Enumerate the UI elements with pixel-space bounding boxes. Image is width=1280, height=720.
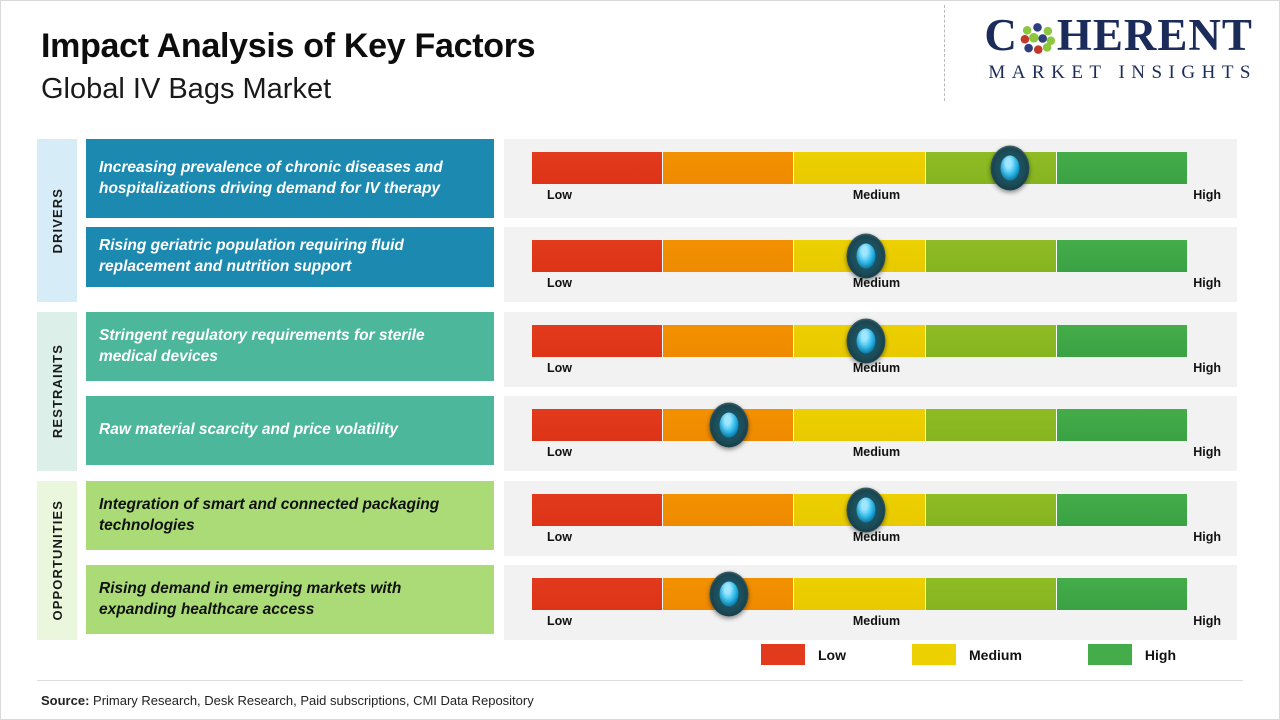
gauge-segment-medium (793, 152, 924, 184)
logo-letter-c: C (984, 13, 1018, 58)
gauge-segment-medium-high (925, 578, 1056, 610)
gauge-segment-medium-high (925, 409, 1056, 441)
legend-item-high: High (1088, 644, 1176, 665)
scale-label-low: Low (547, 361, 572, 375)
gauge-segment-low-medium (662, 325, 793, 357)
scale-label-low: Low (547, 530, 572, 544)
gauge-segment-low-medium (662, 240, 793, 272)
impact-marker[interactable] (991, 146, 1030, 191)
gauge-segment-low (532, 325, 662, 357)
gauge-segment-high (1056, 152, 1187, 184)
scale-label-high: High (1193, 361, 1221, 375)
gauge-scale: Low Medium High (532, 276, 1221, 298)
gauge-segment-low-medium (662, 494, 793, 526)
gauge-segment-low (532, 152, 662, 184)
scale-label-high: High (1193, 188, 1221, 202)
rows-drivers: Increasing prevalence of chronic disease… (86, 139, 1237, 302)
rows-restraints: Stringent regulatory requirements for st… (86, 312, 1237, 471)
table-row: Raw material scarcity and price volatili… (86, 396, 1237, 471)
gauge-segment-high (1056, 409, 1187, 441)
slide-canvas: Impact Analysis of Key Factors Global IV… (0, 0, 1280, 720)
logo-wordmark: C HERENT (984, 13, 1257, 58)
table-row: Stringent regulatory requirements for st… (86, 312, 1237, 387)
gauge-segment-low-medium (662, 152, 793, 184)
gauge-segment-medium-high (925, 494, 1056, 526)
scale-label-low: Low (547, 188, 572, 202)
category-label: OPPORTUNITIES (50, 500, 65, 620)
gauge-segment-low (532, 494, 662, 526)
gauge-segment-high (1056, 240, 1187, 272)
table-row: Rising demand in emerging markets with e… (86, 565, 1237, 640)
scale-label-high: High (1193, 614, 1221, 628)
legend-swatch-medium (912, 644, 956, 665)
impact-gauge: Low Medium High (504, 227, 1237, 302)
scale-label-medium: Medium (853, 361, 900, 375)
gauge-segment-high (1056, 578, 1187, 610)
gauge-segment-high (1056, 494, 1187, 526)
impact-gauge: Low Medium High (504, 139, 1237, 218)
legend: Low Medium High (761, 644, 1176, 665)
gauge-segment-medium-high (925, 325, 1056, 357)
legend-label-medium: Medium (969, 647, 1022, 663)
globe-dots-icon (1019, 20, 1056, 57)
source-note: Source: Primary Research, Desk Research,… (41, 693, 534, 708)
impact-marker[interactable] (847, 234, 886, 279)
header: Impact Analysis of Key Factors Global IV… (41, 27, 535, 106)
scale-label-medium: Medium (853, 188, 900, 202)
gauge-bar (532, 578, 1187, 610)
impact-marker[interactable] (709, 572, 748, 617)
footer-divider (37, 680, 1243, 681)
scale-label-high: High (1193, 445, 1221, 459)
scale-label-high: High (1193, 530, 1221, 544)
gauge-bar (532, 494, 1187, 526)
source-text: Primary Research, Desk Research, Paid su… (89, 693, 533, 708)
scale-label-low: Low (547, 276, 572, 290)
gauge-segment-medium (793, 409, 924, 441)
factor-text: Rising geriatric population requiring fl… (86, 227, 494, 287)
impact-marker[interactable] (709, 403, 748, 448)
factor-text: Rising demand in emerging markets with e… (86, 565, 494, 634)
gauge-scale: Low Medium High (532, 530, 1221, 552)
category-tab-opportunities: OPPORTUNITIES (37, 481, 77, 640)
impact-gauge: Low Medium High (504, 396, 1237, 471)
gauge-segment-low (532, 578, 662, 610)
gauge-scale: Low Medium High (532, 361, 1221, 383)
category-label: DRIVERS (50, 188, 65, 254)
factor-text: Increasing prevalence of chronic disease… (86, 139, 494, 218)
gauge-segment-low (532, 409, 662, 441)
category-tab-restraints: RESTRAINTS (37, 312, 77, 471)
scale-label-medium: Medium (853, 276, 900, 290)
impact-gauge: Low Medium High (504, 565, 1237, 640)
source-label: Source: (41, 693, 89, 708)
scale-label-medium: Medium (853, 445, 900, 459)
impact-gauge: Low Medium High (504, 481, 1237, 556)
page-subtitle: Global IV Bags Market (41, 73, 535, 106)
page-title: Impact Analysis of Key Factors (41, 27, 535, 66)
gauge-segment-high (1056, 325, 1187, 357)
logo-letters-herent: HERENT (1057, 13, 1253, 58)
scale-label-low: Low (547, 614, 572, 628)
gauge-segment-medium-high (925, 240, 1056, 272)
section-opportunities: OPPORTUNITIES Integration of smart and c… (37, 481, 1237, 640)
section-restraints: RESTRAINTS Stringent regulatory requirem… (37, 312, 1237, 471)
gauge-bar (532, 240, 1187, 272)
logo-tagline: MARKET INSIGHTS (984, 62, 1257, 84)
factor-text: Raw material scarcity and price volatili… (86, 396, 494, 465)
table-row: Integration of smart and connected packa… (86, 481, 1237, 556)
legend-item-low: Low (761, 644, 846, 665)
gauge-scale: Low Medium High (532, 614, 1221, 636)
impact-matrix: DRIVERS Increasing prevalence of chronic… (37, 139, 1237, 640)
logo-divider (944, 5, 945, 101)
impact-gauge: Low Medium High (504, 312, 1237, 387)
category-label: RESTRAINTS (50, 344, 65, 438)
rows-opportunities: Integration of smart and connected packa… (86, 481, 1237, 640)
scale-label-high: High (1193, 276, 1221, 290)
scale-label-medium: Medium (853, 530, 900, 544)
section-drivers: DRIVERS Increasing prevalence of chronic… (37, 139, 1237, 302)
gauge-scale: Low Medium High (532, 445, 1221, 467)
impact-marker[interactable] (847, 488, 886, 533)
company-logo: C HERENT MARKET INSIGHTS (984, 13, 1257, 84)
factor-text: Stringent regulatory requirements for st… (86, 312, 494, 381)
category-tab-drivers: DRIVERS (37, 139, 77, 302)
gauge-bar (532, 152, 1187, 184)
factor-text: Integration of smart and connected packa… (86, 481, 494, 550)
table-row: Rising geriatric population requiring fl… (86, 227, 1237, 302)
legend-swatch-high (1088, 644, 1132, 665)
scale-label-low: Low (547, 445, 572, 459)
gauge-segment-low (532, 240, 662, 272)
legend-label-low: Low (818, 647, 846, 663)
gauge-bar (532, 409, 1187, 441)
gauge-bar (532, 325, 1187, 357)
impact-marker[interactable] (847, 319, 886, 364)
legend-label-high: High (1145, 647, 1176, 663)
legend-item-medium: Medium (912, 644, 1022, 665)
scale-label-medium: Medium (853, 614, 900, 628)
gauge-scale: Low Medium High (532, 188, 1221, 210)
gauge-segment-medium (793, 578, 924, 610)
legend-swatch-low (761, 644, 805, 665)
table-row: Increasing prevalence of chronic disease… (86, 139, 1237, 218)
